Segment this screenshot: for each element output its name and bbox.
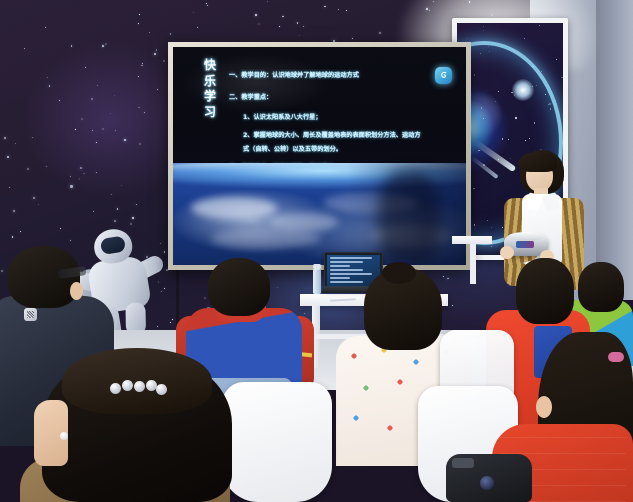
screen-glare — [181, 53, 331, 113]
slide-line-3: 1、认识太阳系及八大行星； — [243, 115, 322, 121]
polo-chest-logo — [24, 308, 37, 321]
interactive-whiteboard[interactable]: 快 乐 学 习 一、教学目的：认识地球并了解地球的运动方式 二、教学重点： 1、… — [168, 42, 471, 270]
white-shell-chair-1[interactable] — [222, 382, 332, 502]
slide-line-4: 2、掌握地球的大小、周长及覆盖地表的表面积划分方法、运动方 — [243, 133, 421, 139]
hair-tie — [608, 352, 624, 362]
boy-head — [208, 258, 270, 316]
slide-line-5: 式（自转、公转）以及五带的划分。 — [243, 147, 342, 153]
water-bottle-cap — [313, 264, 321, 269]
wall-corner-edge — [596, 0, 633, 300]
girl-hair-bun — [382, 262, 416, 284]
side-table-leg — [470, 244, 476, 284]
screenshot-scene: 快 乐 学 习 一、教学目的：认识地球并了解地球的运动方式 二、教学重点： 1、… — [0, 0, 633, 502]
bag-tag — [452, 458, 474, 468]
girl-ear — [536, 396, 552, 418]
adult-man-ear — [70, 282, 83, 300]
child-green-blue-head — [578, 262, 624, 312]
pearl-hairclip — [110, 380, 166, 394]
camera-lens-icon — [480, 476, 494, 490]
swirl-logo — [435, 67, 452, 84]
display-screen: 快 乐 学 习 一、教学目的：认识地球并了解地球的运动方式 二、教学重点： 1、… — [173, 47, 466, 265]
side-table — [452, 236, 492, 244]
presenter-shadow-on-screen — [378, 171, 440, 265]
ring — [60, 432, 68, 440]
star-flare-icon — [512, 79, 534, 101]
water-bottle[interactable] — [313, 268, 321, 294]
child-red-jacket-head — [516, 258, 574, 324]
